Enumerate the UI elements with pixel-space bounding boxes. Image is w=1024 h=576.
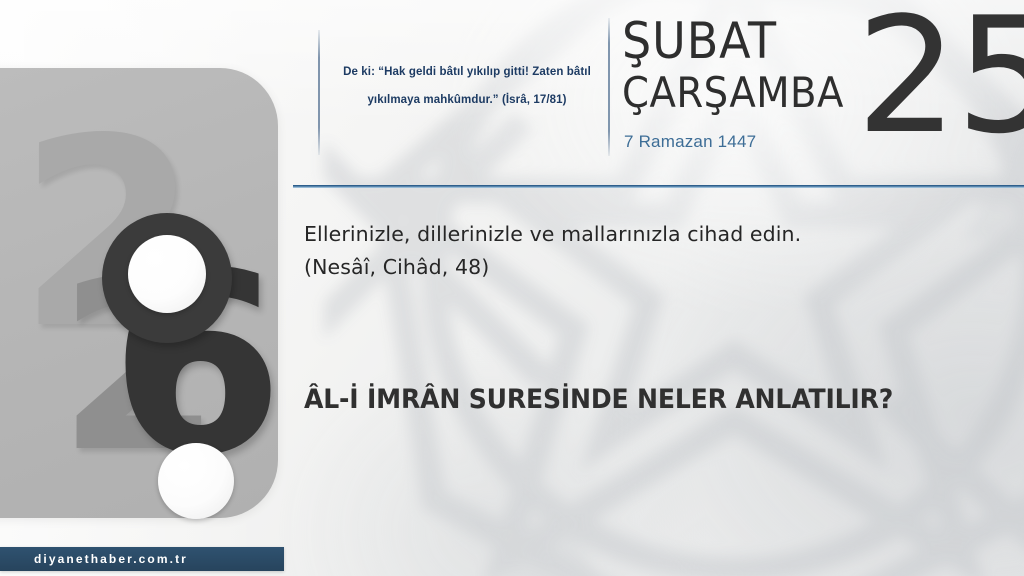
- hijri-date-label: 7 Ramazan 1447: [624, 132, 756, 152]
- month-label: ŞUBAT: [622, 16, 777, 66]
- verse-divider: [318, 30, 320, 155]
- hadith-text: Ellerinizle, dillerinizle ve mallarınızl…: [304, 222, 801, 246]
- hadith-source: (Nesâî, Cihâd, 48): [304, 251, 964, 284]
- calendar-page: 2 2 6 De ki: “Hak geldi bâtıl yıkılıp gi…: [0, 0, 1024, 576]
- article-headline: ÂL-İ İMRÂN SURESİNDE NELER ANLATILIR?: [304, 385, 955, 415]
- year-logo-2026: 2 2 6: [0, 85, 280, 505]
- verse-line-1: De ki: “Hak geldi bâtıl yıkılıp gitti! Z…: [336, 58, 598, 86]
- logo-zero-counter: [128, 235, 206, 313]
- verse-line-2: yıkılmaya mahkûmdur.” (İsrâ, 17/81): [336, 86, 598, 114]
- weekday-label: ÇARŞAMBA: [622, 72, 844, 114]
- day-number: 25: [856, 0, 1024, 156]
- date-divider: [608, 18, 610, 156]
- footer-bar: diyanethaber.com.tr: [0, 547, 284, 571]
- logo-digit-zero-ring: [102, 213, 232, 343]
- quran-verse: De ki: “Hak geldi bâtıl yıkılıp gitti! Z…: [336, 58, 598, 114]
- website-url[interactable]: diyanethaber.com.tr: [34, 552, 188, 566]
- logo-six-counter: [158, 443, 234, 519]
- hadith-block: Ellerinizle, dillerinizle ve mallarınızl…: [304, 218, 964, 284]
- main-divider: [293, 185, 1024, 188]
